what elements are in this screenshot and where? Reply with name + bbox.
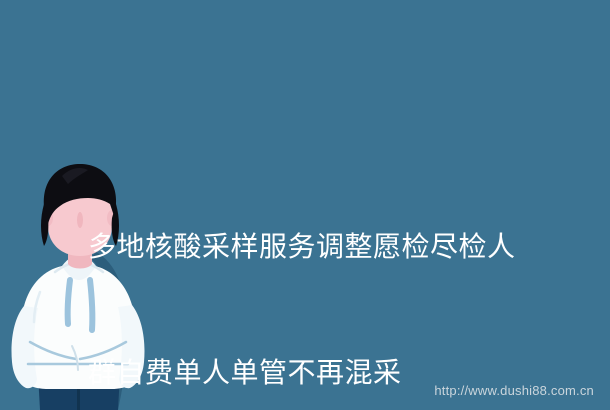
headline: 多地核酸采样服务调整愿检尽检人 群自费单人单管不再混采 [88,142,588,410]
poster-canvas: 多地核酸采样服务调整愿检尽检人 群自费单人单管不再混采 http://www.d… [0,0,610,410]
headline-line-1: 多地核酸采样服务调整愿检尽检人 [88,226,588,268]
nose-mark [77,212,83,228]
drawstring-left [68,280,70,324]
watermark-url: http://www.dushi88.com.cn [434,383,594,398]
